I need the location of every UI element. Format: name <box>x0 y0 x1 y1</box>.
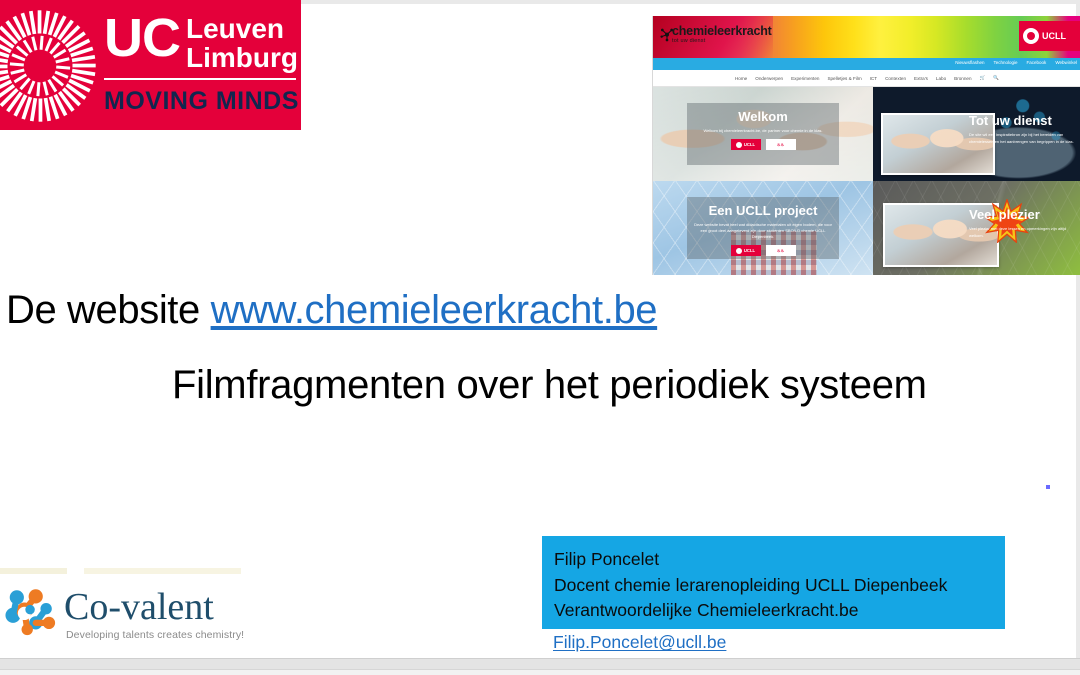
tile-body-welkom: Welkom bij chemieleerkracht.be, de partn… <box>693 128 833 134</box>
site-banner-title-group: chemieleerkracht tot uw dienst <box>672 25 772 45</box>
site-main-menu: Home Onderwerpen Experimenten Spelletjes… <box>653 70 1080 87</box>
site-cart-icon[interactable]: 🛒 <box>980 75 986 81</box>
tile-badge-partner: ♨♨ <box>766 245 796 256</box>
ucll-limburg-text: Limburg <box>186 44 298 73</box>
ucll-logo: UC Leuven Limburg MOVING MINDS <box>0 0 301 130</box>
site-menu-item-5[interactable]: Contexten <box>885 76 906 81</box>
stray-dot-artifact <box>1046 485 1050 489</box>
contact-role: Docent chemie lerarenopleiding UCLL Diep… <box>554 573 1005 599</box>
tile-badge-ucll: UCLL <box>731 139 761 150</box>
ucll-uc-text: UC <box>104 14 180 63</box>
site-menu-item-4[interactable]: ICT <box>870 76 877 81</box>
site-tile-ucll-project[interactable]: Een UCLL project Deze website bevat heel… <box>653 181 873 275</box>
tile-badges: UCLL ♨♨ <box>687 139 839 150</box>
tile-body-project: Deze website bevat heel wat didactische … <box>693 222 833 240</box>
covalent-logo: Co-valent Developing talents creates che… <box>0 566 250 651</box>
site-tile-tot-uw-dienst[interactable]: Tot uw dienst De site wil een inspiratie… <box>873 87 1080 181</box>
covalent-top-strip <box>0 566 250 576</box>
site-banner: chemieleerkracht tot uw dienst UCLL <box>653 16 1080 58</box>
ucll-wordmark: UC Leuven Limburg MOVING MINDS <box>104 14 300 116</box>
site-top-nav-item-0[interactable]: Nieuwsflashen <box>955 60 984 65</box>
site-menu-item-3[interactable]: Spelletjes & Film <box>827 76 861 81</box>
site-menu-item-7[interactable]: Labo <box>936 76 946 81</box>
slide-subtitle: Filmfragmenten over het periodiek systee… <box>172 363 927 408</box>
tile-badge-ucll: UCLL <box>731 245 761 256</box>
site-menu-item-0[interactable]: Home <box>735 76 747 81</box>
site-top-nav-item-2[interactable]: Facebook <box>1027 60 1047 65</box>
contact-email-link[interactable]: Filip.Poncelet@ucll.be <box>553 632 726 652</box>
contact-name: Filip Poncelet <box>554 547 1005 573</box>
contact-responsibility: Verantwoordelijke Chemieleerkracht.be <box>554 598 1005 624</box>
website-line: De website www.chemieleerkracht.be <box>6 288 657 333</box>
ucll-sunburst-icon <box>0 8 98 124</box>
site-menu-item-2[interactable]: Experimenten <box>791 76 819 81</box>
site-tile-veel-plezier[interactable]: Veel plezier Veel plezier met deze lesse… <box>873 181 1080 275</box>
tile-body-plezier: Veel plezier met deze lessen en opmerkin… <box>969 226 1077 240</box>
tile-body-dienst: De site wil een inspiratiebron zijn bij … <box>969 132 1077 146</box>
tile-overlay-plezier: Veel plezier Veel plezier met deze lesse… <box>969 207 1077 240</box>
site-tile-welkom[interactable]: Welkom Welkom bij chemieleerkracht.be, d… <box>653 87 873 181</box>
ucll-leuven-text: Leuven <box>186 15 298 44</box>
contact-email-line: Filip.Poncelet@ucll.be <box>553 632 726 653</box>
chemieleerkracht-link[interactable]: www.chemieleerkracht.be <box>211 288 658 332</box>
site-banner-title: chemieleerkracht <box>672 24 772 38</box>
site-top-nav-item-1[interactable]: Technologie <box>994 60 1018 65</box>
ucll-divider <box>104 78 296 80</box>
tile-overlay-dienst: Tot uw dienst De site wil een inspiratie… <box>969 113 1077 146</box>
website-line-prefix: De website <box>6 288 211 332</box>
covalent-strip-segment-b <box>84 568 241 574</box>
site-search-icon[interactable]: 🔍 <box>993 75 999 81</box>
site-menu-item-8[interactable]: Bronnen <box>954 76 971 81</box>
site-badge-label: UCLL <box>1042 31 1066 41</box>
covalent-wordmark: Co-valent <box>64 588 214 626</box>
covalent-tagline: Developing talents creates chemistry! <box>66 629 244 641</box>
covalent-strip-segment-a <box>0 568 67 574</box>
covalent-molecule-icon <box>2 586 60 638</box>
site-banner-subtitle: tot uw dienst <box>672 39 772 45</box>
contact-info-box: Filip Poncelet Docent chemie lerarenople… <box>542 536 1005 629</box>
site-menu-item-1[interactable]: Onderwerpen <box>755 76 783 81</box>
tile-overlay-welkom: Welkom Welkom bij chemieleerkracht.be, d… <box>687 103 839 165</box>
tile-title-welkom: Welkom <box>687 109 839 124</box>
site-top-nav-item-3[interactable]: Webwinkel <box>1055 60 1077 65</box>
ucll-dot-icon <box>736 142 742 148</box>
tile-title-project: Een UCLL project <box>687 203 839 218</box>
site-menu-item-6[interactable]: Extra's <box>914 76 928 81</box>
ucll-tagline: MOVING MINDS <box>104 87 300 116</box>
tile-title-dienst: Tot uw dienst <box>969 113 1077 128</box>
ucll-dot-icon <box>1023 28 1039 44</box>
site-tile-grid: Welkom Welkom bij chemieleerkracht.be, d… <box>653 87 1080 275</box>
tile-title-plezier: Veel plezier <box>969 207 1077 222</box>
viewer-bottom-strip <box>0 669 1080 675</box>
tile-badges: UCLL ♨♨ <box>687 245 839 256</box>
tile-overlay-project: Een UCLL project Deze website bevat heel… <box>687 197 839 259</box>
site-ucll-badge: UCLL <box>1019 21 1080 51</box>
presentation-slide: UC Leuven Limburg MOVING MINDS <box>0 0 1080 675</box>
ucll-dot-icon <box>736 248 742 254</box>
tile-badge-partner: ♨♨ <box>766 139 796 150</box>
site-top-nav: Nieuwsflashen Technologie Facebook Webwi… <box>955 60 1077 65</box>
website-screenshot: chemieleerkracht tot uw dienst UCLL Nieu… <box>652 16 1080 275</box>
